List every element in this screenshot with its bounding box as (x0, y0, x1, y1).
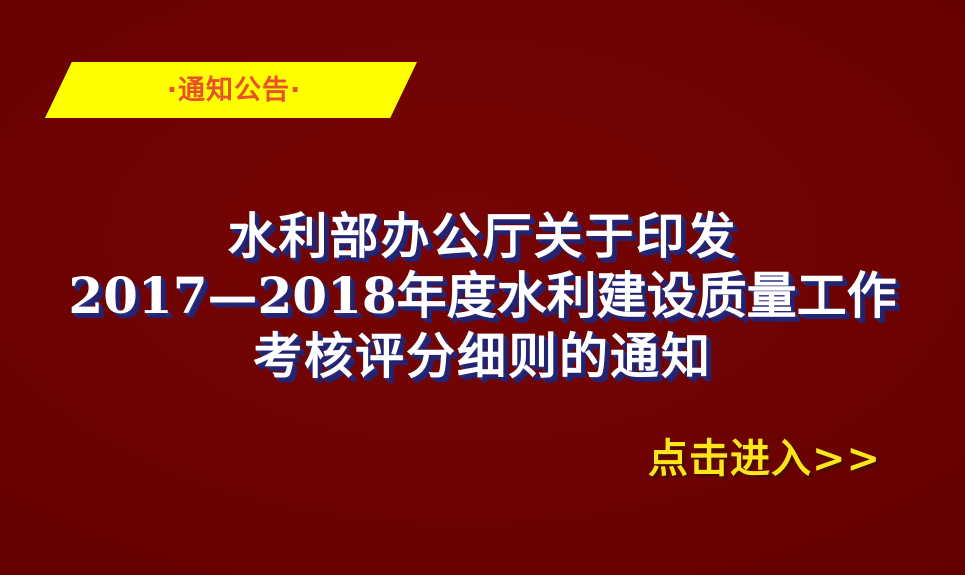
headline-line-3: 考核评分细则的通知 (0, 326, 965, 386)
headline-line-2: 2017—2018年度水利建设质量工作 (0, 266, 965, 326)
banner-label: ·通知公告· (45, 62, 417, 118)
headline-line-1: 水利部办公厅关于印发 (0, 206, 965, 266)
headline-block: 水利部办公厅关于印发 2017—2018年度水利建设质量工作 考核评分细则的通知 (0, 206, 965, 386)
enter-link[interactable]: 点击进入>> (648, 434, 881, 484)
notice-banner: ·通知公告· (45, 62, 417, 118)
notice-poster: ·通知公告· 水利部办公厅关于印发 2017—2018年度水利建设质量工作 考核… (0, 0, 965, 575)
